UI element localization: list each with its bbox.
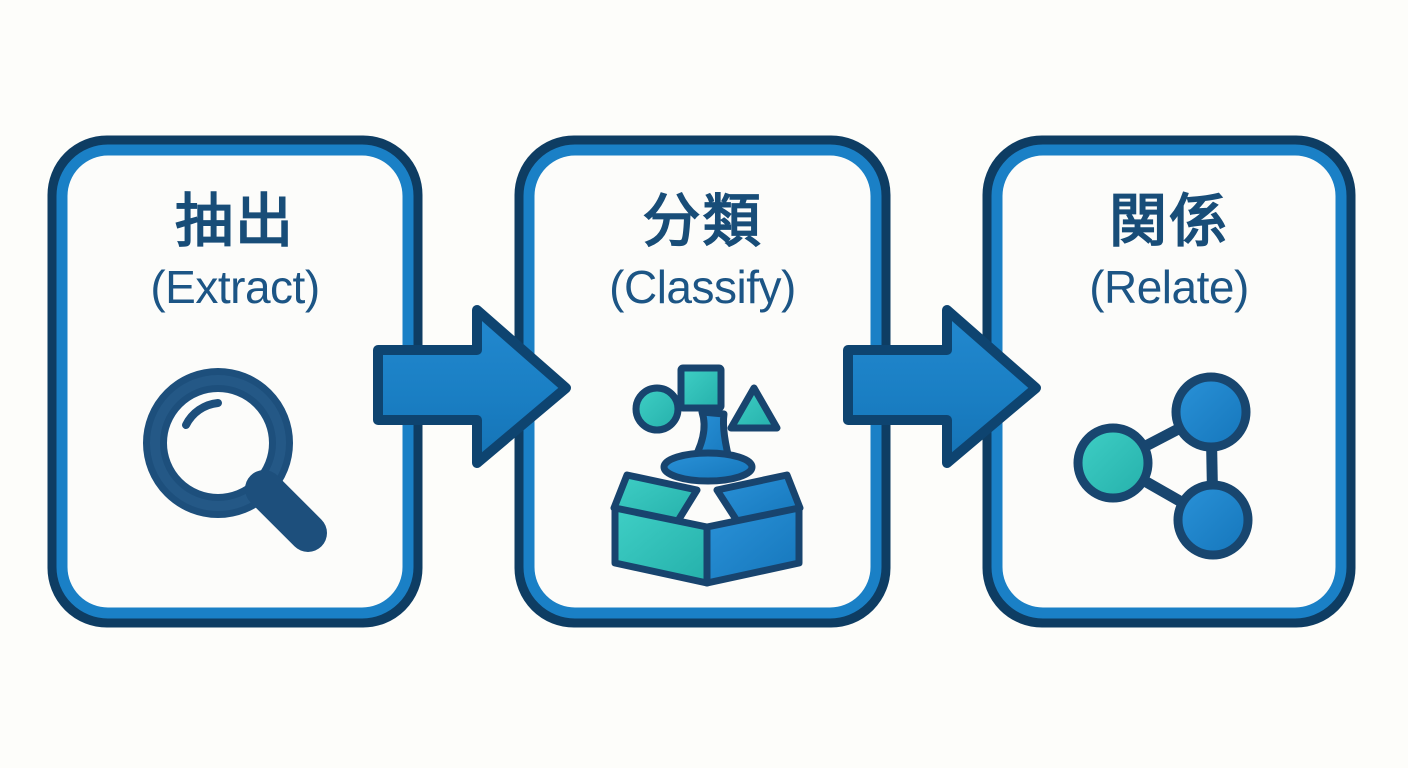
card-relate-labels: 関係 (Relate) [990, 192, 1348, 310]
flow-diagram: 抽出 (Extract) 分類 (Classify) 関係 (Relate) [0, 0, 1408, 768]
card-classify-labels: 分類 (Classify) [522, 192, 883, 310]
card-extract-labels: 抽出 (Extract) [55, 192, 415, 310]
wizard-hat-brim [664, 453, 752, 481]
card-relate-title-en: (Relate) [990, 264, 1348, 310]
graph-node-left [1078, 428, 1148, 498]
graph-node-bottom [1178, 485, 1248, 555]
diagram-canvas [0, 0, 1408, 768]
card-classify-title-en: (Classify) [522, 264, 883, 310]
graph-node-top [1176, 377, 1246, 447]
shape-circle-icon [636, 388, 678, 430]
shape-square-icon [681, 368, 721, 408]
card-classify-title-jp: 分類 [522, 192, 883, 250]
card-relate-title-jp: 関係 [990, 192, 1348, 250]
card-extract-title-jp: 抽出 [55, 192, 415, 250]
card-extract-title-en: (Extract) [55, 264, 415, 310]
